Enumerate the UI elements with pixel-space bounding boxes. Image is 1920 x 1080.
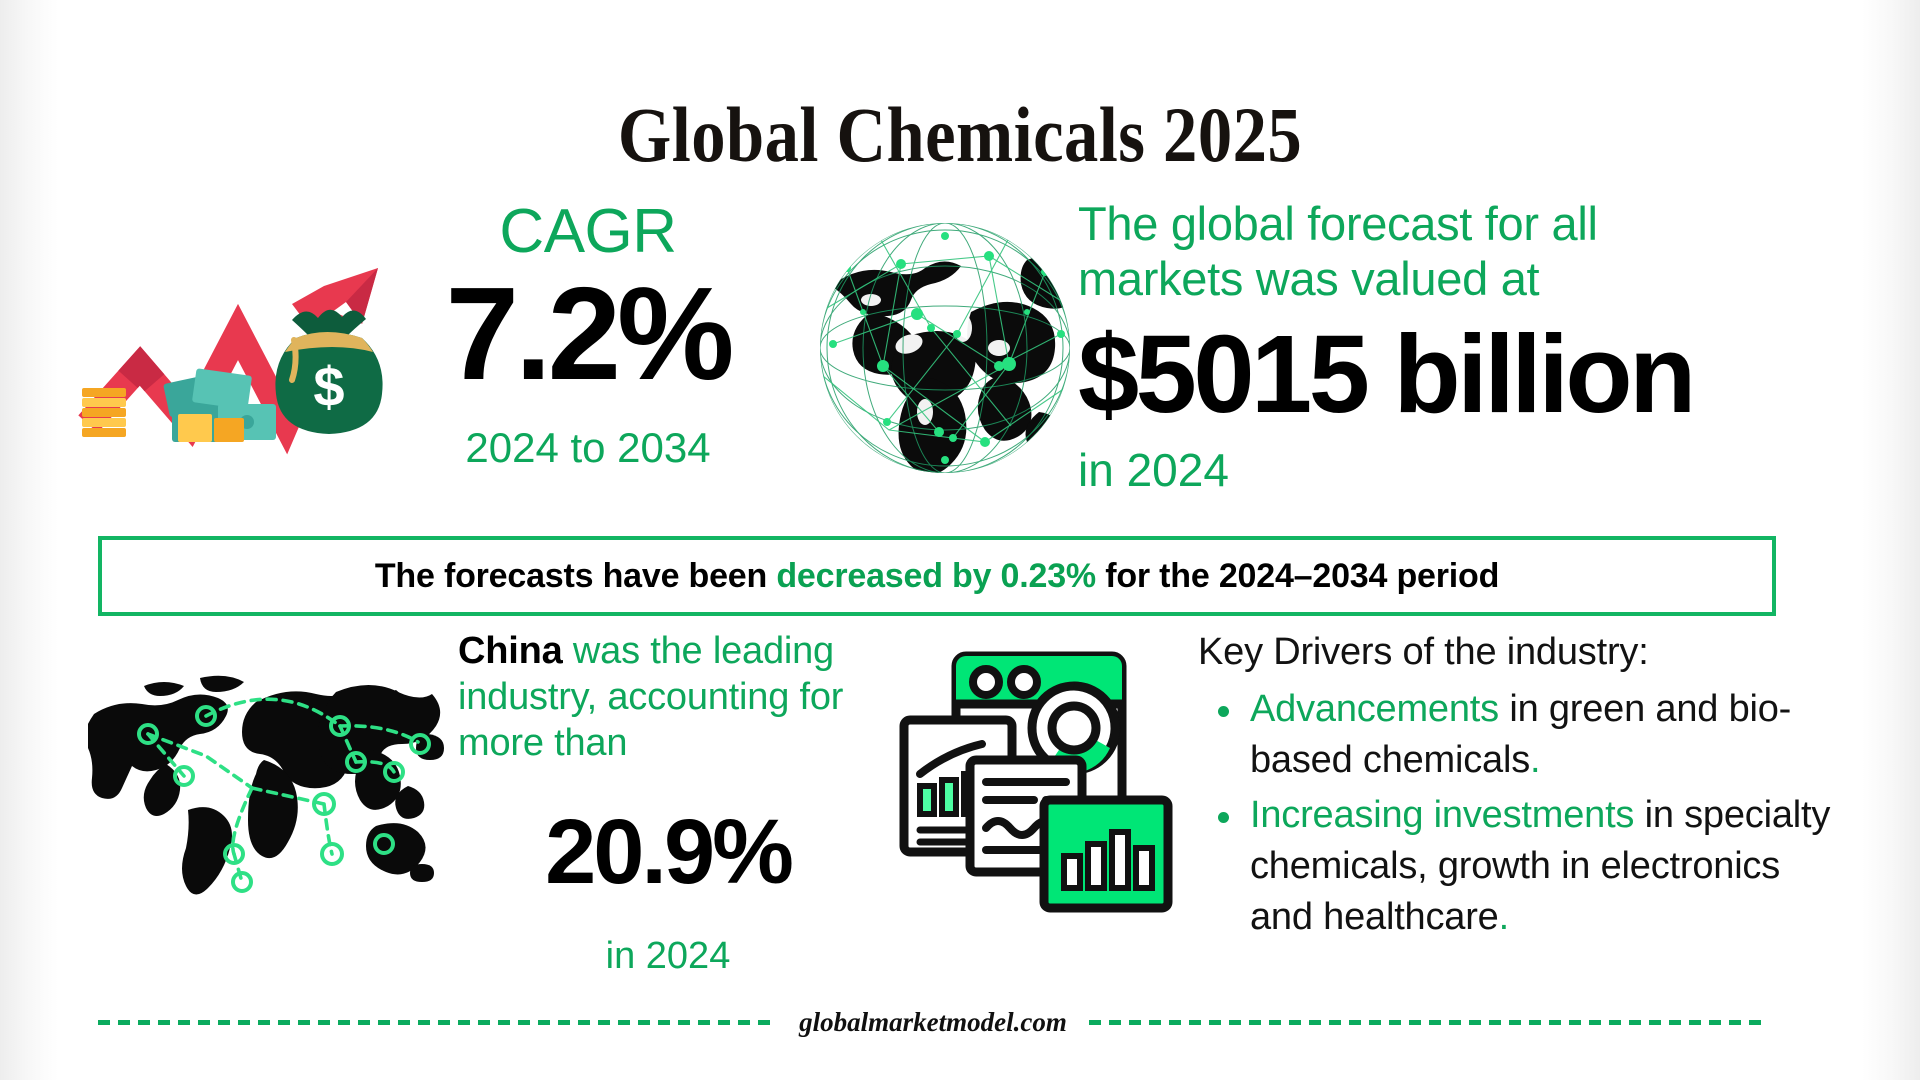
forecast-lede-line2: markets was valued at xyxy=(1078,252,1539,305)
key-drivers-block: Key Drivers of the industry: Advancement… xyxy=(1198,628,1838,947)
infographic-canvas: Global Chemicals 2025 xyxy=(58,0,1862,1080)
driver-lead: Advancements xyxy=(1250,688,1499,730)
cagr-label: CAGR xyxy=(388,196,788,268)
row-cagr-forecast: $ CAGR 7.2% 2024 to 2034 xyxy=(58,196,1862,496)
driver-dot: . xyxy=(1530,739,1540,781)
forecast-change-banner: The forecasts have been decreased by 0.2… xyxy=(98,536,1776,616)
forecast-value: $5015 billion xyxy=(1078,314,1862,436)
china-value: 20.9% xyxy=(458,802,878,902)
key-drivers-title: Key Drivers of the industry: xyxy=(1198,628,1838,676)
forecast-block: The global forecast for all markets was … xyxy=(1078,196,1862,498)
driver-dot: . xyxy=(1499,896,1509,938)
infographic-page: Global Chemicals 2025 xyxy=(0,0,1920,1080)
money-growth-chart-icon: $ xyxy=(78,246,398,466)
cagr-period: 2024 to 2034 xyxy=(388,422,788,474)
cagr-block: CAGR 7.2% 2024 to 2034 xyxy=(388,196,788,474)
footer: globalmarketmodel.com xyxy=(98,1002,1768,1042)
forecast-lede-line1: The global forecast for all xyxy=(1078,197,1598,250)
china-year: in 2024 xyxy=(458,932,878,980)
page-title: Global Chemicals 2025 xyxy=(166,92,1754,178)
cagr-value: 7.2% xyxy=(388,264,788,404)
network-globe-icon xyxy=(813,216,1078,481)
svg-text:$: $ xyxy=(313,355,344,418)
list-item: Increasing investments in specialty chem… xyxy=(1250,790,1838,943)
banner-prefix: The forecasts have been xyxy=(375,557,776,595)
key-drivers-list: Advancements in green and bio-based chem… xyxy=(1198,684,1838,943)
list-item: Advancements in green and bio-based chem… xyxy=(1250,684,1838,786)
forecast-year: in 2024 xyxy=(1078,442,1862,498)
banner-text: The forecasts have been decreased by 0.2… xyxy=(375,557,1499,596)
world-map-connections-icon xyxy=(88,668,448,898)
china-name: China xyxy=(458,630,563,672)
footer-rule-left xyxy=(98,1020,777,1025)
forecast-lede: The global forecast for all markets was … xyxy=(1078,196,1862,306)
row-china-drivers: China was the leading industry, accounti… xyxy=(58,628,1862,958)
banner-highlight: decreased by 0.23% xyxy=(776,557,1096,595)
banner-suffix: for the 2024–2034 period xyxy=(1096,557,1499,595)
footer-domain: globalmarketmodel.com xyxy=(799,1007,1067,1038)
china-block: China was the leading industry, accounti… xyxy=(458,628,878,980)
china-lede: China was the leading industry, accounti… xyxy=(458,628,878,766)
driver-lead: Increasing investments xyxy=(1250,794,1634,836)
analytics-dashboard-icon xyxy=(898,642,1178,922)
footer-rule-right xyxy=(1089,1020,1768,1025)
